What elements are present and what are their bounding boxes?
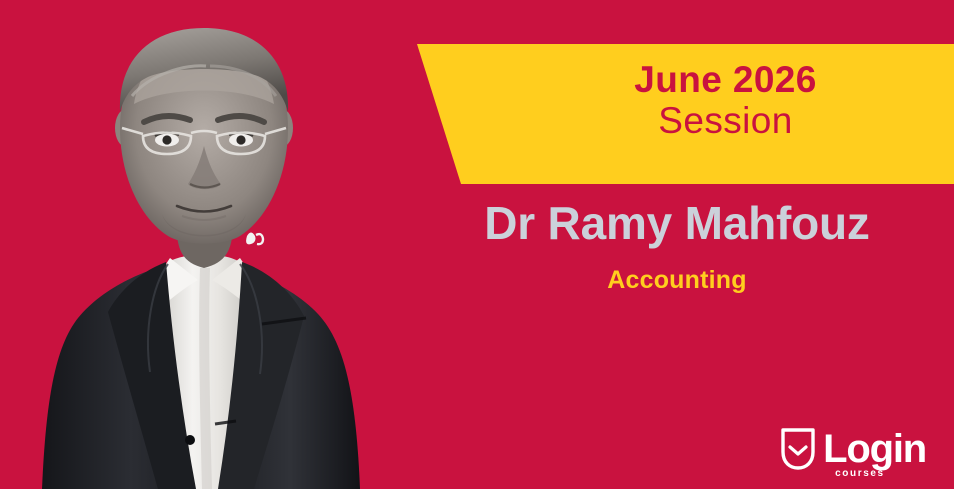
logo-name: Login: [823, 429, 926, 469]
speaker-portrait: [0, 0, 400, 489]
session-announcement-banner: June 2026 Session Dr Ramy Mahfouz Accoun…: [0, 0, 954, 489]
shield-check-icon: [779, 427, 817, 471]
speaker-name: Dr Ramy Mahfouz: [400, 198, 954, 249]
brand-logo: Login courses: [779, 427, 926, 471]
session-label: Session: [497, 100, 954, 143]
date-ribbon: June 2026 Session: [417, 44, 954, 184]
lapel-pin-icon: [246, 233, 263, 245]
logo-wordmark: Login courses: [823, 429, 926, 469]
session-month-year: June 2026: [497, 44, 954, 100]
logo-subtitle: courses: [835, 469, 885, 479]
speaker-topic: Accounting: [400, 249, 954, 295]
speaker-block: Dr Ramy Mahfouz Accounting: [400, 198, 954, 294]
